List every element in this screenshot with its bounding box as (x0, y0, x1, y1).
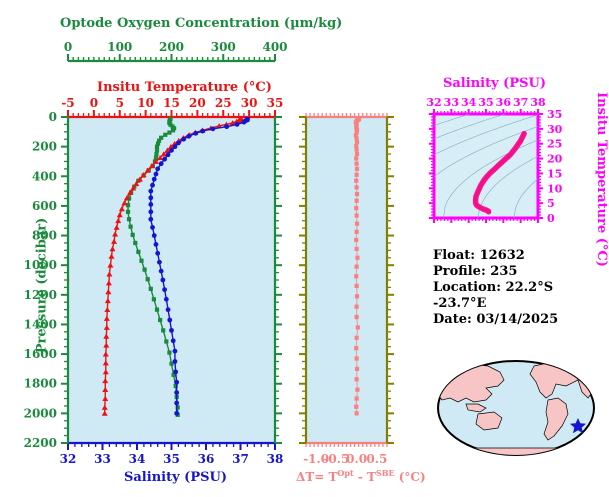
delta-point (355, 140, 359, 144)
salinity-point (148, 202, 153, 207)
map-land-australia (476, 412, 502, 430)
temperature-tick-label: 20 (189, 96, 206, 110)
oxygen-tick-label: 400 (262, 40, 287, 54)
main-panel-background (68, 117, 275, 443)
delta-point (355, 148, 359, 152)
oxygen-point (171, 128, 175, 132)
salinity-tick-label: 38 (267, 452, 284, 466)
salinity-point (160, 278, 165, 283)
salinity-point (174, 411, 179, 416)
oxygen-point (158, 318, 162, 322)
salinity-point (211, 126, 216, 131)
pressure-tick-label: 1400 (24, 317, 57, 331)
ts-y-tick-label: 5 (547, 197, 555, 210)
oxygen-point (167, 130, 171, 134)
delta-point (355, 247, 359, 251)
salinity-point (159, 269, 164, 274)
salinity-tick-label: 32 (60, 452, 77, 466)
pressure-tick-label: 800 (32, 229, 57, 243)
salinity-point (154, 242, 159, 247)
salinity-axis: 32333435363738 (60, 443, 284, 466)
salinity-point (173, 144, 178, 149)
delta-point (354, 144, 358, 148)
salinity-point (173, 369, 178, 374)
ts-x-tick-label: 35 (478, 96, 493, 109)
delta-point (355, 199, 359, 203)
salinity-point (171, 338, 176, 343)
delta-point (354, 274, 358, 278)
ts-y-tick-label: 25 (547, 138, 562, 151)
salinity-tick-label: 37 (232, 452, 249, 466)
salinity-point (224, 124, 229, 129)
pressure-tick-label: 400 (32, 169, 57, 183)
delta-point (355, 284, 359, 288)
salinity-point (176, 141, 181, 146)
delta-point (354, 156, 358, 160)
salinity-point (173, 359, 178, 364)
delta-point (355, 336, 359, 340)
temperature-tick-label: 25 (215, 96, 232, 110)
oxygen-point (142, 268, 146, 272)
ts-y-tick-label: 10 (547, 182, 563, 195)
salinity-point (154, 172, 159, 177)
pressure-tick-label: 1000 (24, 258, 57, 272)
salinity-point (155, 166, 160, 171)
ts-x-tick-label: 37 (513, 96, 528, 109)
salinity-point (169, 328, 174, 333)
salinity-point (235, 122, 240, 127)
delta-point (355, 265, 359, 269)
pressure-tick-label: 1800 (24, 377, 57, 391)
delta-point (355, 256, 359, 260)
oxygen-point (161, 328, 165, 332)
delta-point (354, 346, 358, 350)
delta-point (355, 356, 359, 360)
salinity-point (242, 120, 247, 125)
delta-tick-label: 0.0 (346, 452, 367, 466)
salinity-point (148, 195, 153, 200)
pressure-tick-label: 0 (49, 110, 57, 124)
salinity-point (164, 297, 169, 302)
oxygen-point (155, 145, 159, 149)
temperature-axis: -505101520253035 (61, 96, 283, 117)
salinity-point (155, 251, 160, 256)
salinity-point (150, 183, 155, 188)
pressure-tick-label: 200 (32, 140, 57, 154)
temperature-tick-label: -5 (61, 96, 74, 110)
salinity-tick-label: 33 (94, 452, 111, 466)
delta-point (354, 238, 358, 242)
oxygen-point (131, 233, 135, 237)
oxygen-point (154, 152, 158, 156)
delta-panel-background (306, 117, 387, 443)
figure-canvas: 0100200300400 -505101520253035 323334353… (0, 0, 609, 497)
temperature-tick-label: 35 (267, 96, 284, 110)
ts-x-tick-label: 34 (461, 96, 477, 109)
oxygen-point (167, 351, 171, 355)
temperature-tick-label: 10 (137, 96, 154, 110)
oxygen-point (139, 259, 143, 263)
delta-point (355, 222, 359, 226)
salinity-point (174, 401, 179, 406)
ts-x-tick-label: 36 (496, 96, 512, 109)
oxygen-tick-label: 100 (107, 40, 132, 54)
salinity-point (167, 318, 172, 323)
delta-point (355, 136, 359, 140)
delta-point (355, 192, 359, 196)
salinity-point (181, 137, 186, 142)
ts-isopycnal (427, 74, 445, 78)
ts-isopycnal (427, 75, 515, 96)
salinity-point (186, 134, 191, 139)
salinity-point (193, 131, 198, 136)
delta-point (355, 152, 359, 156)
delta-point (355, 315, 359, 319)
oxygen-point (155, 308, 159, 312)
oxygen-point (152, 297, 156, 301)
salinity-point (157, 260, 162, 265)
delta-point (355, 305, 359, 309)
salinity-point (169, 148, 174, 153)
salinity-point (166, 307, 171, 312)
delta-point (355, 396, 359, 400)
oxygen-point (146, 277, 150, 281)
salinity-point (200, 129, 205, 134)
salinity-point (148, 189, 153, 194)
ts-y-tick-label: 15 (547, 167, 562, 180)
oxygen-point (136, 250, 140, 254)
oxygen-tick-label: 200 (159, 40, 184, 54)
delta-point (355, 213, 359, 217)
salinity-tick-label: 34 (129, 452, 146, 466)
oxygen-point (129, 225, 133, 229)
oxygen-axis: 0100200300400 (64, 40, 288, 61)
pressure-tick-label: 2200 (24, 436, 57, 450)
oxygen-tick-label: 300 (211, 40, 236, 54)
salinity-tick-label: 35 (163, 452, 180, 466)
delta-point (355, 230, 359, 234)
delta-point (355, 411, 359, 415)
ts-y-tick-label: 35 (547, 108, 562, 121)
world-map (436, 361, 596, 456)
salinity-point (174, 390, 179, 395)
salinity-point (159, 161, 164, 166)
pressure-tick-label: 600 (32, 199, 57, 213)
pressure-tick-label: 1200 (24, 288, 57, 302)
delta-point (356, 325, 360, 329)
salinity-point (148, 217, 153, 222)
oxygen-point (155, 148, 159, 152)
oxygen-tick-label: 0 (64, 40, 72, 54)
temperature-tick-label: 0 (90, 96, 98, 110)
delta-tick-label: 0.5 (366, 452, 387, 466)
salinity-point (174, 380, 179, 385)
pressure-tick-label: 1600 (24, 347, 57, 361)
temperature-tick-label: 5 (116, 96, 124, 110)
delta-point (354, 179, 358, 183)
oxygen-point (163, 133, 167, 137)
oxygen-point (149, 287, 153, 291)
delta-point (355, 388, 359, 392)
delta-point (354, 206, 358, 210)
delta-point (355, 173, 359, 177)
salinity-point (150, 225, 155, 230)
delta-point (354, 405, 358, 409)
salinity-point (166, 152, 171, 157)
delta-point (355, 294, 359, 298)
ts-y-tick-label: 30 (547, 123, 563, 136)
oxygen-point (126, 210, 130, 214)
delta-point (355, 367, 359, 371)
ts-isopycnal (427, 74, 482, 87)
pressure-tick-label: 2000 (24, 406, 57, 420)
map-land-antarctica (442, 448, 590, 456)
temperature-tick-label: 15 (163, 96, 180, 110)
ts-y-tick-label: 20 (547, 153, 563, 166)
salinity-point (173, 349, 178, 354)
salinity-tick-label: 36 (198, 452, 215, 466)
salinity-point (162, 157, 167, 162)
ts-x-tick-label: 32 (426, 96, 441, 109)
delta-point (355, 185, 359, 189)
temperature-tick-label: 30 (241, 96, 258, 110)
salinity-point (152, 177, 157, 182)
salinity-point (148, 209, 153, 214)
delta-point (355, 167, 359, 171)
ts-x-tick-label: 38 (530, 96, 546, 109)
ts-y-tick-label: 0 (547, 212, 555, 225)
oxygen-point (127, 217, 131, 221)
oxygen-point (164, 339, 168, 343)
ts-x-tick-label: 33 (444, 96, 459, 109)
delta-point (355, 377, 359, 381)
delta-point (355, 162, 359, 166)
salinity-point (162, 287, 167, 292)
salinity-point (152, 233, 157, 238)
oxygen-point (133, 241, 137, 245)
